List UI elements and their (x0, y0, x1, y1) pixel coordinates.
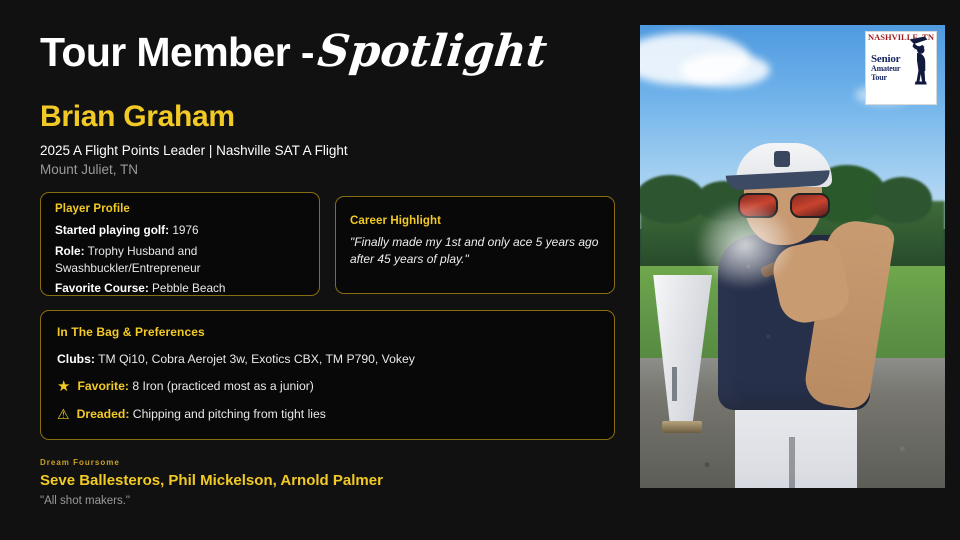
left-column: Tour Member - Spotlight Brian Graham 202… (40, 30, 620, 179)
cloud-shape (680, 53, 770, 87)
bag-clubs-label: Clubs: (57, 352, 95, 366)
career-highlight-card-title: Career Highlight (350, 215, 600, 227)
player-subtitle: 2025 A Flight Points Leader | Nashville … (40, 143, 620, 160)
logo-line-3: Tour (871, 74, 887, 82)
profile-course-row: Favorite Course: Pebble Beach (55, 280, 305, 297)
player-location: Mount Juliet, TN (40, 162, 620, 179)
spotlight-slide: Tour Member - Spotlight Brian Graham 202… (0, 0, 960, 540)
cigar-smoke (696, 201, 794, 289)
profile-role-row: Role: Trophy Husband and Swashbuckler/En… (55, 243, 305, 277)
player-profile-card: Player Profile Started playing golf: 197… (40, 192, 320, 296)
player-photo: Senior Amateur Tour NASHVILLE, TN (640, 25, 945, 488)
golfer-swing-icon (902, 35, 932, 95)
dream-foursome-quote: "All shot makers." (40, 495, 620, 509)
bag-favorite-label: Favorite: (77, 379, 128, 393)
profile-started-value: 1976 (172, 223, 198, 237)
profile-role-label: Role: (55, 244, 85, 258)
profile-started-row: Started playing golf: 1976 (55, 222, 305, 239)
warning-triangle-icon: ⚠ (57, 407, 70, 421)
profile-started-label: Started playing golf: (55, 223, 169, 237)
golfer-shorts (735, 397, 857, 488)
tree-shape (872, 177, 932, 223)
profile-course-label: Favorite Course: (55, 281, 149, 295)
player-name: Brian Graham (40, 101, 620, 133)
bag-dreaded-label: Dreaded: (77, 407, 130, 421)
career-highlight-card: Career Highlight "Finally made my 1st an… (335, 196, 615, 294)
page-title-main: Tour Member - (40, 32, 314, 73)
bag-dreaded-text: Dreaded: Chipping and pitching from tigh… (77, 406, 326, 423)
in-the-bag-card: In The Bag & Preferences Clubs: TM Qi10,… (40, 310, 615, 440)
page-title: Tour Member - Spotlight (40, 30, 620, 74)
tour-logo: Senior Amateur Tour NASHVILLE, TN (865, 31, 937, 105)
career-highlight-quote: "Finally made my 1st and only ace 5 year… (350, 234, 600, 269)
cap-logo-icon (774, 151, 790, 167)
bag-clubs-row: Clubs: TM Qi10, Cobra Aerojet 3w, Exotic… (57, 351, 598, 368)
profile-course-value: Pebble Beach (152, 281, 225, 295)
bag-favorite-row: ★ Favorite: 8 Iron (practiced most as a … (57, 378, 598, 395)
dream-foursome-section: Dream Foursome Seve Ballesteros, Phil Mi… (40, 458, 620, 509)
logo-line-2: Amateur (871, 65, 900, 73)
dream-foursome-names: Seve Ballesteros, Phil Mickelson, Arnold… (40, 472, 620, 490)
star-icon: ★ (57, 379, 70, 394)
dream-foursome-label: Dream Foursome (40, 458, 620, 467)
page-title-script: Spotlight (316, 30, 549, 74)
bag-dreaded-row: ⚠ Dreaded: Chipping and pitching from ti… (57, 406, 598, 423)
player-profile-card-title: Player Profile (55, 203, 305, 215)
in-the-bag-card-title: In The Bag & Preferences (57, 325, 598, 339)
sunglasses-lens-right (790, 193, 830, 218)
bag-favorite-value: 8 Iron (practiced most as a junior) (132, 379, 314, 393)
trophy-base (662, 421, 702, 433)
bag-favorite-text: Favorite: 8 Iron (practiced most as a ju… (77, 378, 313, 395)
bag-clubs-value: TM Qi10, Cobra Aerojet 3w, Exotics CBX, … (98, 352, 415, 366)
bag-dreaded-value: Chipping and pitching from tight lies (133, 407, 326, 421)
